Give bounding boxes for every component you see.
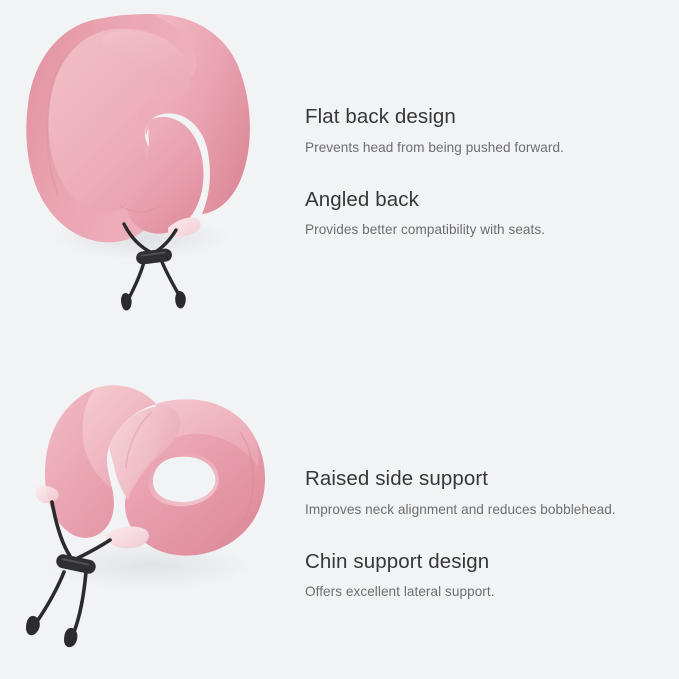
- feature-angled-back: Angled back Provides better compatibilit…: [305, 187, 671, 239]
- feature-title: Flat back design: [305, 104, 671, 130]
- neck-pillow-front-view-image: [0, 0, 295, 339]
- feature-raised-side-support: Raised side support Improves neck alignm…: [305, 466, 671, 518]
- feature-title: Chin support design: [305, 549, 671, 575]
- cord-tip-right: [175, 291, 186, 309]
- neck-pillow-front-view-svg: [0, 0, 295, 339]
- cord-tip-right: [64, 628, 77, 647]
- feature-panel-top: Flat back design Prevents head from bein…: [0, 0, 679, 339]
- cord-tip-left: [26, 616, 40, 635]
- cord-end-tips: [26, 616, 77, 647]
- feature-list-bottom: Raised side support Improves neck alignm…: [295, 418, 679, 601]
- feature-description: Improves neck alignment and reduces bobb…: [305, 501, 671, 519]
- feature-description: Prevents head from being pushed forward.: [305, 139, 671, 157]
- feature-description: Offers excellent lateral support.: [305, 583, 671, 601]
- infographic-page: Flat back design Prevents head from bein…: [0, 0, 679, 679]
- drawstring-cord-right-lower: [162, 262, 179, 295]
- drawstring-cord-left-lower: [38, 572, 64, 620]
- feature-flat-back-design: Flat back design Prevents head from bein…: [305, 104, 671, 156]
- neck-pillow-angled-view-image: [0, 340, 295, 679]
- feature-chin-support-design: Chin support design Offers excellent lat…: [305, 549, 671, 601]
- neck-pillow-angled-view-svg: [0, 340, 295, 679]
- feature-list-top: Flat back design Prevents head from bein…: [295, 100, 679, 239]
- feature-title: Angled back: [305, 187, 671, 213]
- feature-panel-bottom: Raised side support Improves neck alignm…: [0, 340, 679, 679]
- feature-description: Provides better compatibility with seats…: [305, 221, 671, 239]
- feature-title: Raised side support: [305, 466, 671, 492]
- drawstring-cord-left-lower: [129, 262, 144, 298]
